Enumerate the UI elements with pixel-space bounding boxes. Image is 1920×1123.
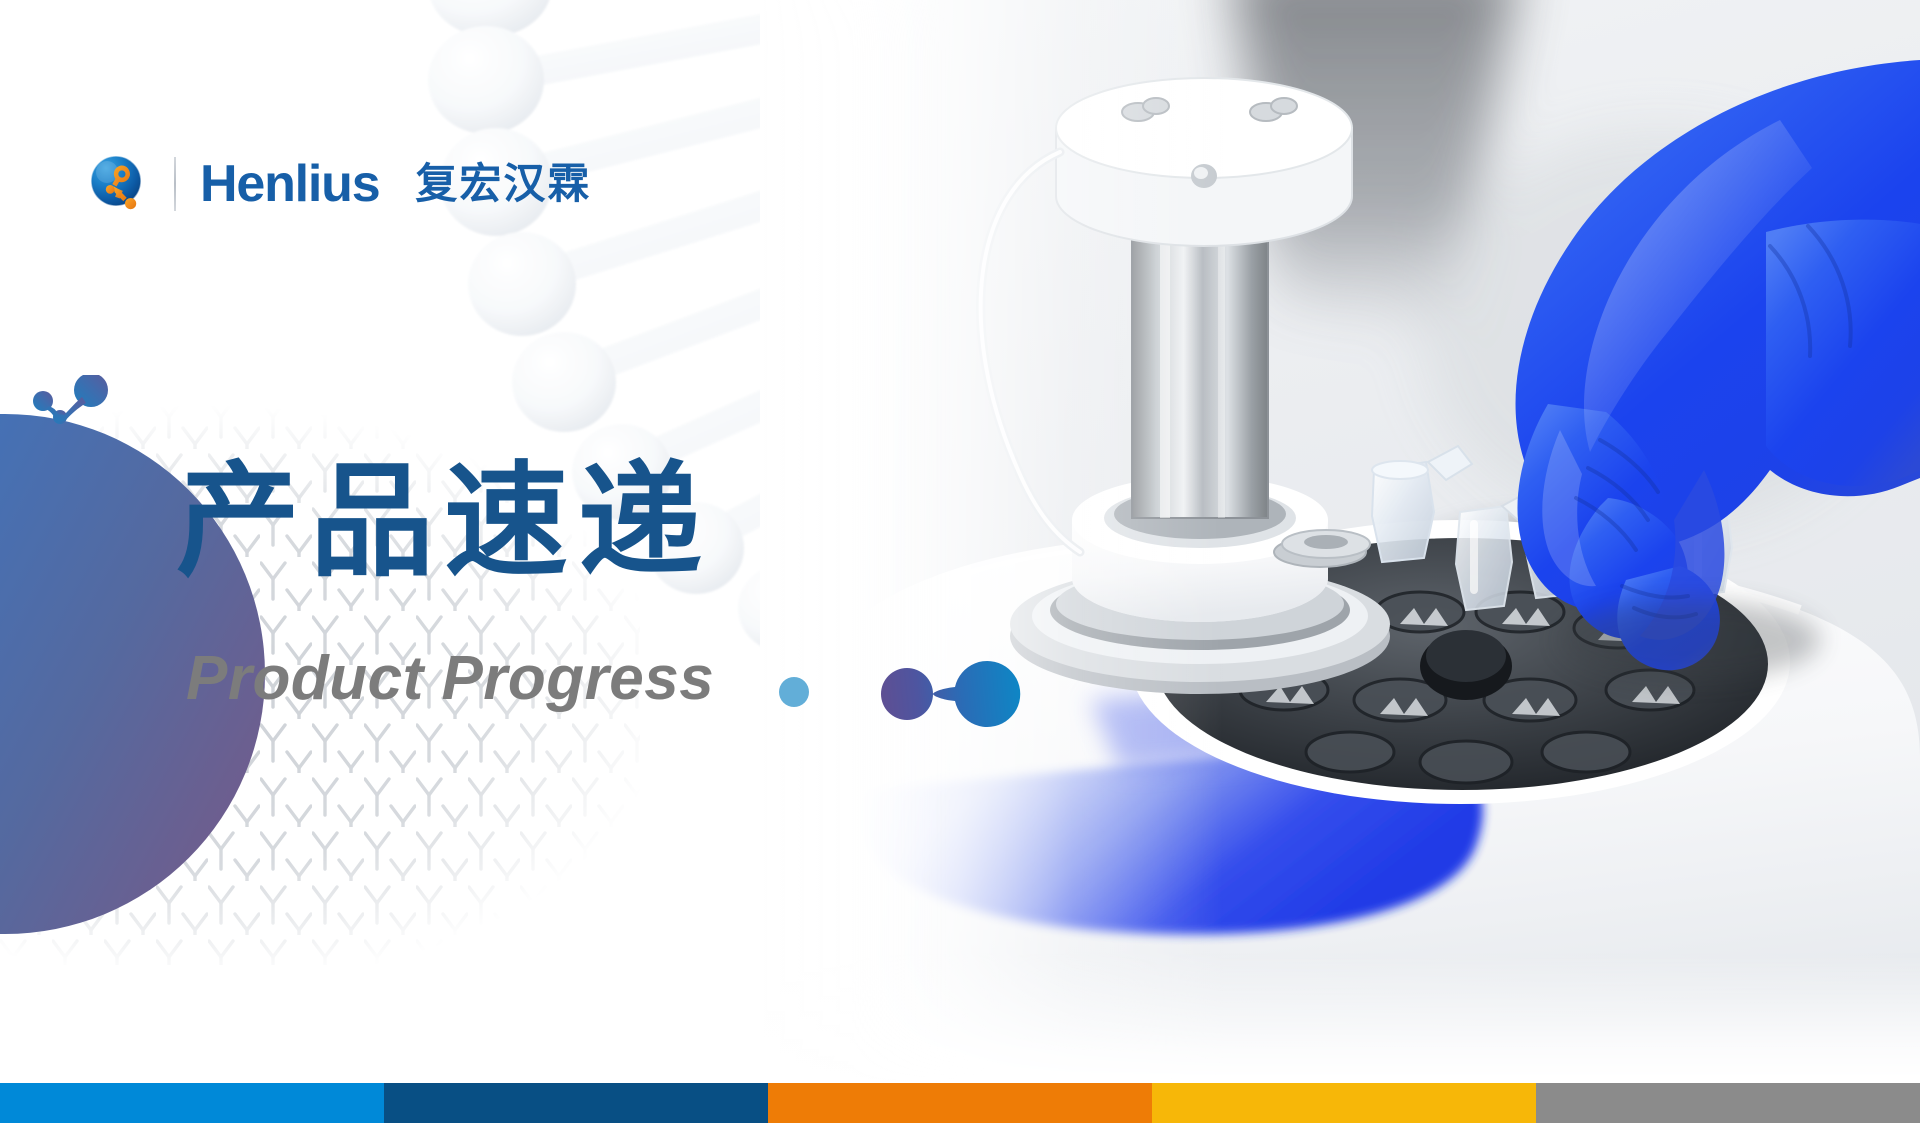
- slide-canvas: Henlius 复宏汉霖 产品速递 Product Progress: [0, 0, 1920, 1123]
- page-title: 产品速递: [176, 460, 712, 584]
- molecule-icon: [855, 650, 1035, 738]
- molecule-icon: [20, 375, 150, 455]
- brand-name-en: Henlius: [200, 158, 379, 210]
- decorative-dot: [779, 677, 809, 707]
- bar-segment-navy: [384, 1083, 768, 1123]
- brand-logo: Henlius 复宏汉霖: [88, 148, 591, 220]
- bar-segment-blue: [0, 1083, 384, 1123]
- brand-name-cn: 复宏汉霖: [415, 163, 591, 205]
- logo-divider: [174, 157, 176, 211]
- lab-technician-blue-glove-centrifuge-photo: [760, 0, 1920, 1083]
- henlius-molecule-logo-icon: [88, 153, 150, 215]
- bottom-color-bar: [0, 1083, 1920, 1123]
- bar-segment-gray: [1536, 1083, 1920, 1123]
- bar-segment-gold: [1152, 1083, 1536, 1123]
- page-subtitle: Product Progress: [186, 648, 714, 710]
- bar-segment-orange: [768, 1083, 1152, 1123]
